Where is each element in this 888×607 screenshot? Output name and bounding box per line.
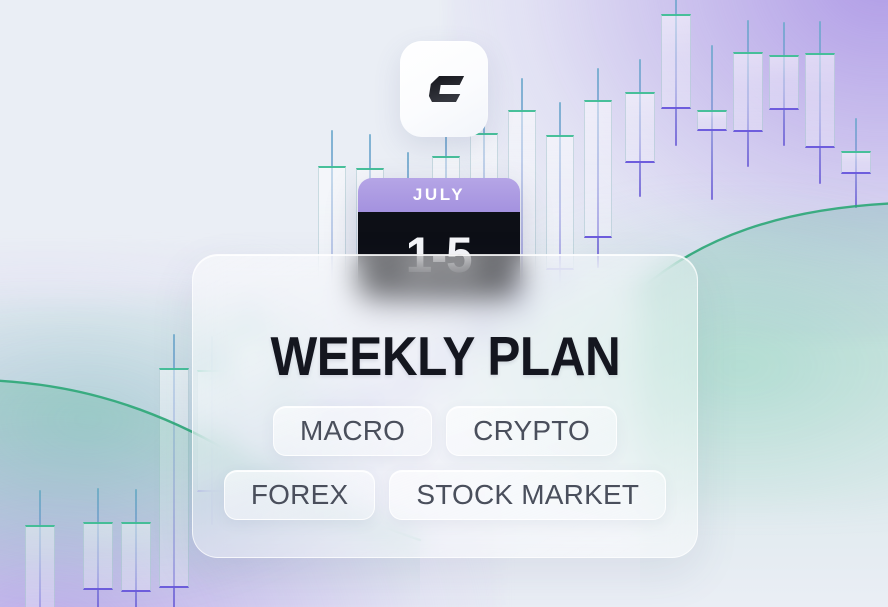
candlestick-body <box>805 53 835 148</box>
weekly-plan-poster: JULY 1-5 WEEKLY PLAN MACRO CRYPTO FOREX … <box>0 0 888 607</box>
candlestick-body <box>733 52 763 132</box>
candlestick-top-right-0 <box>625 59 655 197</box>
candlestick-body <box>121 522 151 592</box>
candlestick-body <box>697 110 727 131</box>
candlestick-bottom-left-3 <box>159 334 189 607</box>
candlestick-body <box>25 525 55 607</box>
calendar-month-label: JULY <box>413 185 465 205</box>
candlestick-top-right-3 <box>733 20 763 167</box>
candlestick-body <box>159 368 189 588</box>
main-content-card: WEEKLY PLAN MACRO CRYPTO FOREX STOCK MAR… <box>192 254 698 558</box>
candlestick-top-right-6 <box>841 118 871 208</box>
tag-pill-stock-market[interactable]: STOCK MARKET <box>389 470 666 520</box>
candlestick-body <box>83 522 113 590</box>
candlestick-top-right-4 <box>769 22 799 146</box>
c-logo-icon <box>419 64 469 114</box>
candlestick-top-right-1 <box>661 0 691 146</box>
candlestick-body <box>661 14 691 109</box>
tag-pill-macro[interactable]: MACRO <box>273 406 432 456</box>
candlestick-top-right-5 <box>805 21 835 184</box>
calendar-header: JULY <box>358 178 520 212</box>
candlestick-body <box>584 100 612 238</box>
candlestick-center-7 <box>584 68 612 268</box>
tag-row-2: FOREX STOCK MARKET <box>224 470 666 520</box>
candlestick-body <box>841 151 871 174</box>
candlestick-bottom-left-0 <box>25 490 55 607</box>
tag-pill-crypto[interactable]: CRYPTO <box>446 406 617 456</box>
page-title: WEEKLY PLAN <box>270 329 620 384</box>
candlestick-body <box>769 55 799 110</box>
candlestick-body <box>546 135 574 270</box>
brand-logo-tile <box>400 41 488 137</box>
tag-pill-forex[interactable]: FOREX <box>224 470 375 520</box>
tag-row-1: MACRO CRYPTO <box>273 406 617 456</box>
candlestick-bottom-left-2 <box>121 489 151 607</box>
candlestick-top-right-2 <box>697 45 727 200</box>
candlestick-bottom-left-1 <box>83 488 113 607</box>
candlestick-body <box>625 92 655 163</box>
